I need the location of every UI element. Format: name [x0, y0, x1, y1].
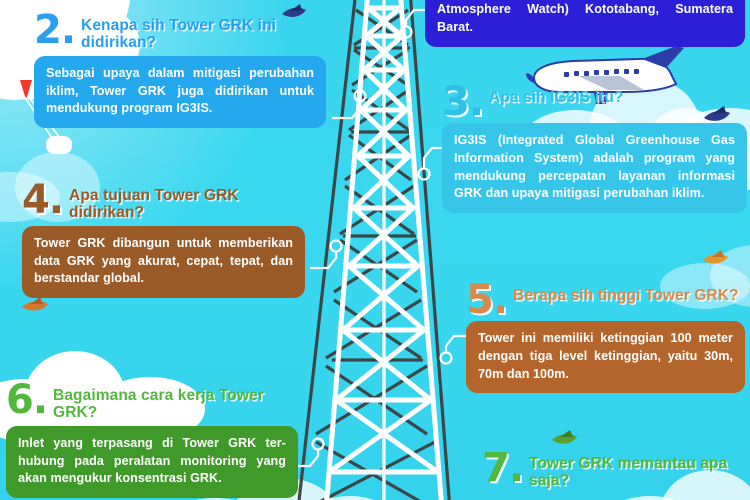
qa-item-5-body: Tower ini memiliki ketinggian 100 meter … — [466, 321, 745, 394]
qa-item-3-title: Apa sih IG3IS itu? — [489, 86, 623, 106]
qa-item-2-title: Kenapa sih Tower GRK ini didirikan? — [81, 14, 334, 52]
qa-item-4-body: Tower GRK dibangun untuk memberikan data… — [22, 226, 305, 299]
qa-item-7-title: Tower GRK memantau apa saja? — [529, 452, 750, 490]
qa-item-2-header: 2. Kenapa sih Tower GRK ini didirikan? — [34, 14, 334, 52]
qa-item-5: 5. Berapa sih tinggi Tower GRK? Tower in… — [466, 284, 750, 393]
bird-orange-right-icon — [700, 248, 732, 270]
qa-item-6-number: 6. — [6, 384, 47, 417]
bird-green-bottom-icon — [548, 428, 582, 450]
qa-item-5-number: 5. — [466, 284, 507, 317]
qa-item-3-header: 3. Apa sih IG3IS itu? — [442, 86, 750, 119]
qa-item-5-title: Berapa sih tinggi Tower GRK? — [513, 284, 739, 304]
infographic-canvas: rumah kaca yang terletak di GAW (Global … — [0, 0, 750, 500]
connector-line-item4 — [308, 232, 356, 276]
qa-item-6-body: Inlet yang terpasang di Tower GRK ter-hu… — [6, 426, 298, 499]
qa-item-6: 6. Bagaimana cara kerja Tower GRK? Inlet… — [6, 384, 306, 498]
qa-item-3: 3. Apa sih IG3IS itu? IG3IS (Integrated … — [442, 86, 750, 213]
qa-item-4: 4. Apa tujuan Tower GRK didirikan? Tower… — [22, 184, 312, 298]
qa-item-2: 2. Kenapa sih Tower GRK ini didirikan? S… — [34, 14, 334, 128]
qa-item-7-number: 7. — [482, 452, 523, 485]
qa-item-1: rumah kaca yang terletak di GAW (Global … — [425, 0, 745, 47]
qa-item-3-number: 3. — [442, 86, 483, 119]
qa-item-2-body: Sebagai upaya dalam mitigasi perubahan i… — [34, 56, 326, 129]
qa-item-1-body: rumah kaca yang terletak di GAW (Global … — [425, 0, 745, 47]
qa-item-2-number: 2. — [34, 14, 75, 47]
qa-item-3-body: IG3IS (Integrated Global Greenhouse Gas … — [442, 123, 747, 214]
qa-item-5-header: 5. Berapa sih tinggi Tower GRK? — [466, 284, 750, 317]
qa-item-4-header: 4. Apa tujuan Tower GRK didirikan? — [22, 184, 312, 222]
qa-item-6-header: 6. Bagaimana cara kerja Tower GRK? — [6, 384, 306, 422]
qa-item-4-number: 4. — [22, 184, 63, 217]
qa-item-7-header: 7. Tower GRK memantau apa saja? — [482, 452, 750, 490]
qa-item-7: 7. Tower GRK memantau apa saja? — [482, 452, 750, 490]
qa-item-6-title: Bagaimana cara kerja Tower GRK? — [53, 384, 306, 422]
connector-line-item2 — [330, 84, 380, 124]
qa-item-4-title: Apa tujuan Tower GRK didirikan? — [69, 184, 312, 222]
